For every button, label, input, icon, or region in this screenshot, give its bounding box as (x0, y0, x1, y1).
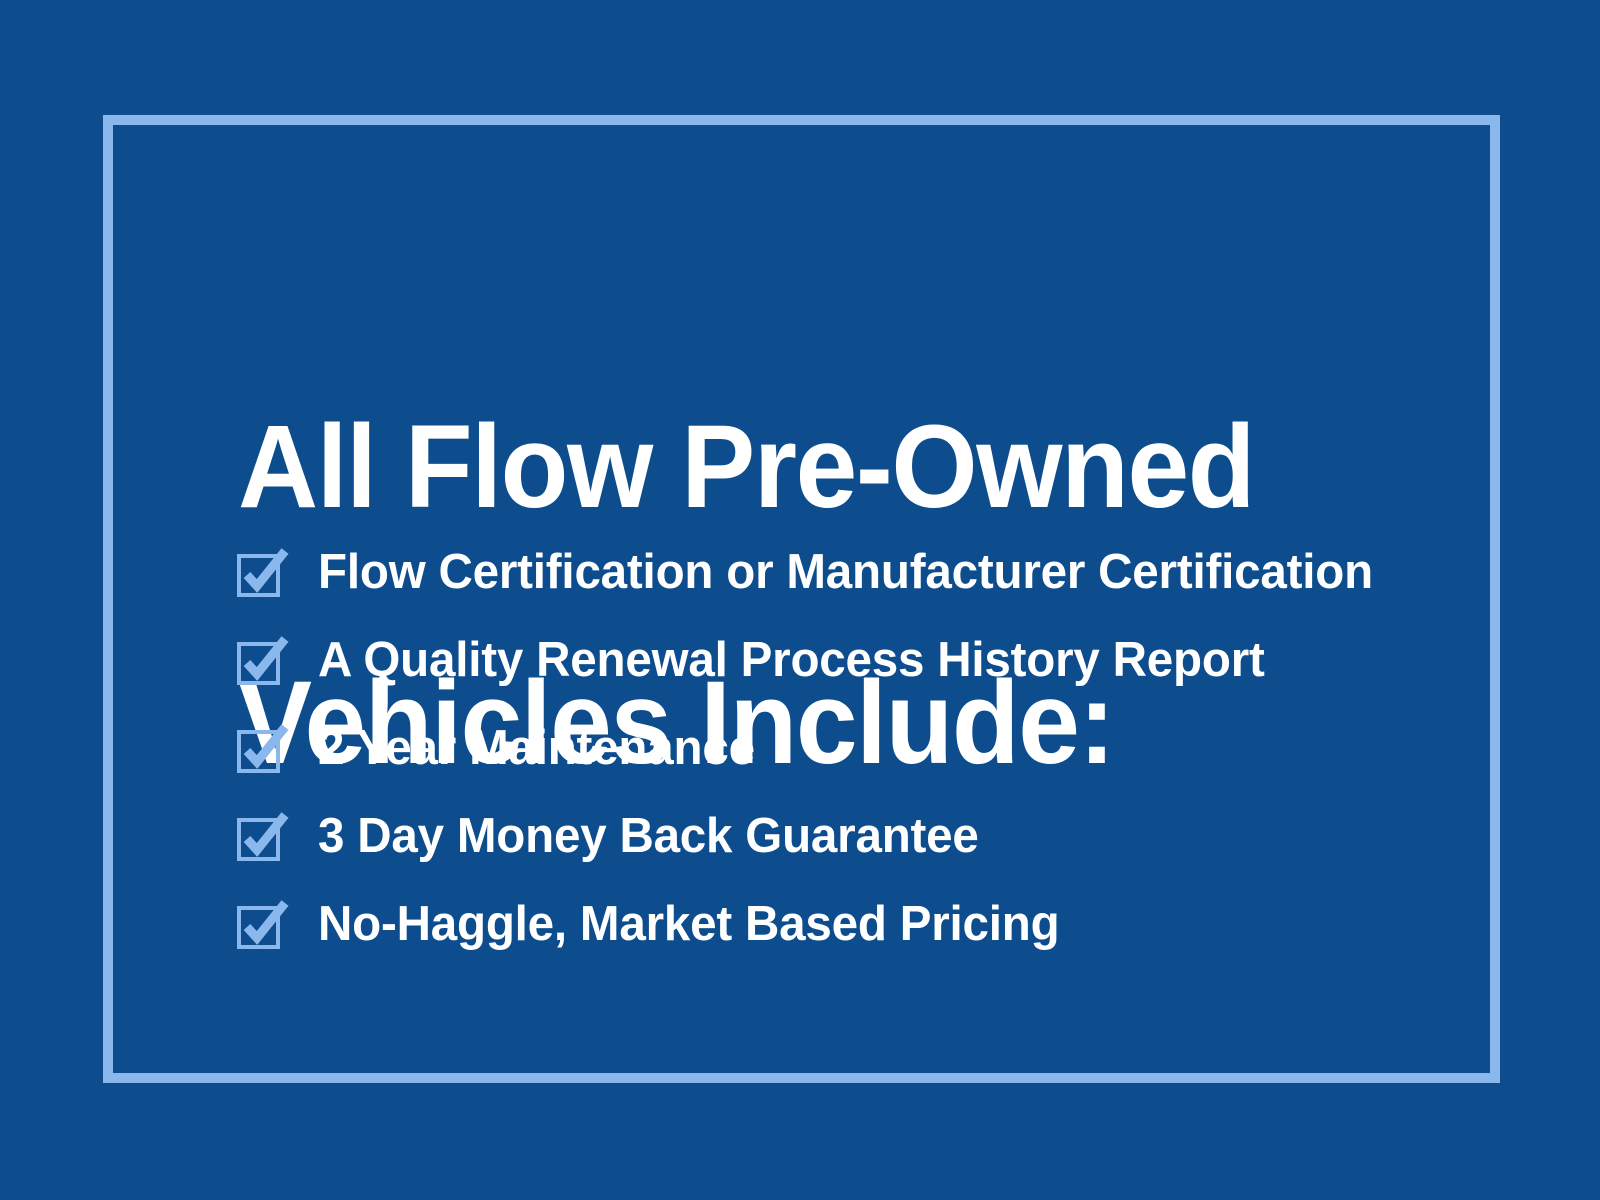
list-item: 3 Day Money Back Guarantee (236, 792, 1456, 880)
list-item-label: No-Haggle, Market Based Pricing (318, 898, 1059, 950)
checked-checkbox-icon (236, 634, 318, 686)
list-item: 2 Year Maintenance (236, 704, 1456, 792)
page-title-line-1: All Flow Pre-Owned (238, 403, 1291, 531)
benefits-checklist: Flow Certification or Manufacturer Certi… (236, 528, 1456, 968)
list-item: Flow Certification or Manufacturer Certi… (236, 528, 1456, 616)
list-item-label: Flow Certification or Manufacturer Certi… (318, 546, 1373, 598)
checked-checkbox-icon (236, 810, 318, 862)
checked-checkbox-icon (236, 898, 318, 950)
list-item: No-Haggle, Market Based Pricing (236, 880, 1456, 968)
checked-checkbox-icon (236, 722, 318, 774)
list-item-label: A Quality Renewal Process History Report (318, 634, 1265, 686)
promo-poster: All Flow Pre-Owned Vehicles Include: Flo… (0, 0, 1600, 1200)
list-item-label: 3 Day Money Back Guarantee (318, 810, 979, 862)
list-item-label: 2 Year Maintenance (318, 722, 755, 774)
list-item: A Quality Renewal Process History Report (236, 616, 1456, 704)
checked-checkbox-icon (236, 546, 318, 598)
